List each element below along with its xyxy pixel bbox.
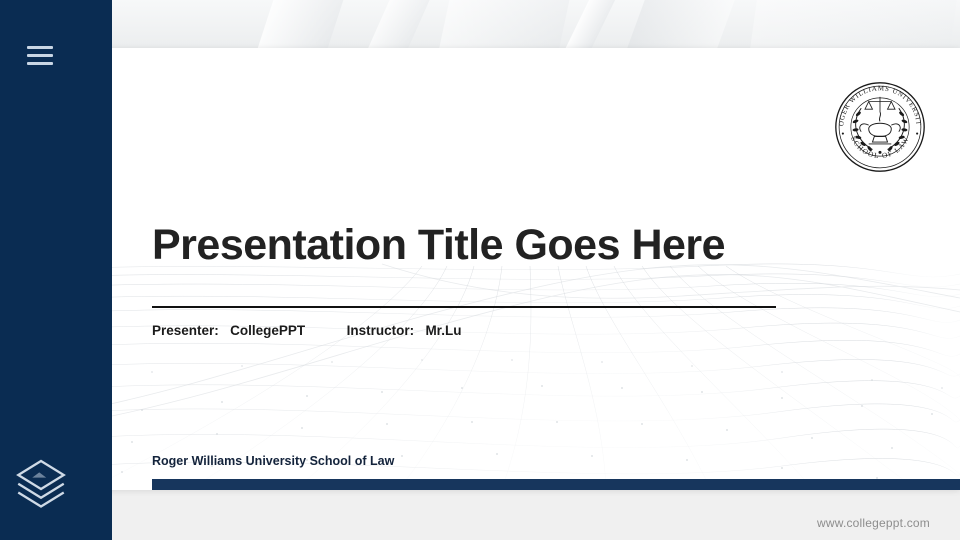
university-seal-icon: ROGER WILLIAMS UNIVERSITY SCHOOL OF LAW <box>833 80 927 174</box>
ribbon-shape <box>741 0 960 48</box>
stacked-layers-logo-icon[interactable] <box>13 454 69 510</box>
ribbon-shape <box>238 0 357 48</box>
presenter-label: Presenter: <box>152 323 219 338</box>
decorative-top-band <box>112 0 960 48</box>
hamburger-menu-icon[interactable] <box>27 44 53 68</box>
menu-bar <box>27 54 53 57</box>
presentation-preview-window: ROGER WILLIAMS UNIVERSITY SCHOOL OF LAW <box>0 0 960 540</box>
menu-bar <box>27 62 53 65</box>
instructor-label: Instructor: <box>347 323 415 338</box>
menu-bar <box>27 46 53 49</box>
title-divider <box>152 306 776 308</box>
presenter-name: CollegePPT <box>230 323 305 338</box>
page-title: Presentation Title Goes Here <box>152 223 852 268</box>
ribbon-shape <box>341 0 448 48</box>
website-watermark: www.collegeppt.com <box>817 516 930 530</box>
instructor-name: Mr.Lu <box>425 323 461 338</box>
byline: Presenter: CollegePPT Instructor: Mr.Lu <box>152 323 461 338</box>
slide-canvas[interactable]: ROGER WILLIAMS UNIVERSITY SCHOOL OF LAW <box>82 48 960 490</box>
slide-accent-bar <box>152 479 960 490</box>
slide-footer-organization: Roger Williams University School of Law <box>152 454 394 468</box>
left-sidebar <box>0 0 112 540</box>
ribbon-shape <box>426 0 578 48</box>
ribbon-shape <box>605 0 750 48</box>
